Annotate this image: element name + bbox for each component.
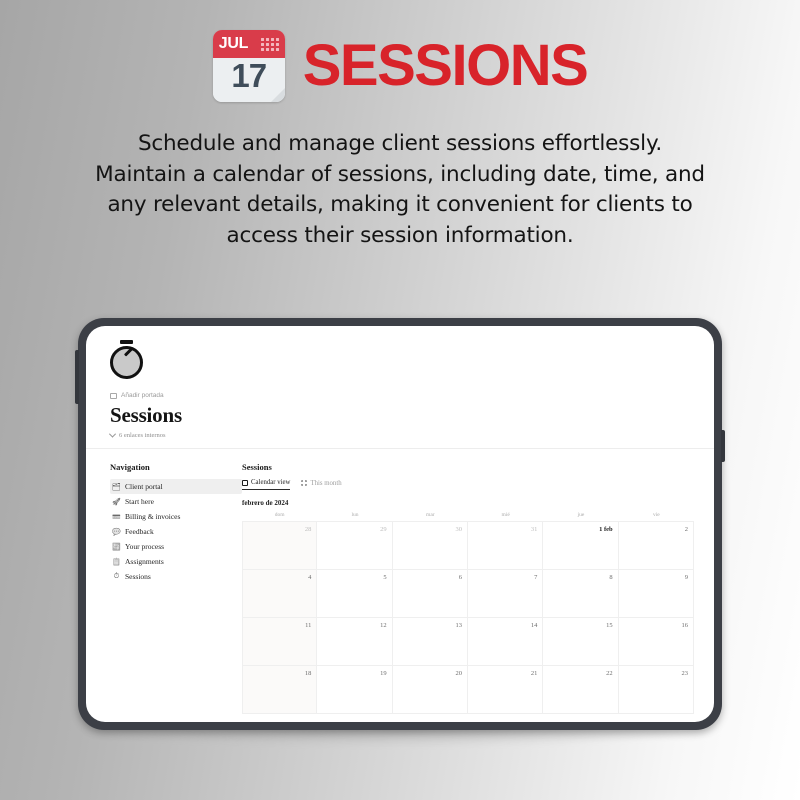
stopwatch-small-icon: ⏱ xyxy=(112,572,121,581)
weekday-label: mar xyxy=(393,512,468,521)
calendar-day-cell[interactable]: 23 xyxy=(619,666,694,713)
calendar-day-cell[interactable]: 22 xyxy=(543,666,618,713)
calendar-view-icon xyxy=(242,480,248,486)
sidebar-item-label: Sessions xyxy=(125,572,151,581)
calendar-icon-dots xyxy=(261,38,279,51)
sidebar-item-label: Feedback xyxy=(125,527,154,536)
calendar-day-cell[interactable]: 7 xyxy=(468,570,543,617)
page-columns: Navigation 🗂 Client portal 🚀 Start here xyxy=(110,462,694,714)
calendar-day-cell[interactable]: 18 xyxy=(242,666,317,713)
tablet-frame: Añadir portada Sessions 6 enlaces intern… xyxy=(78,318,722,730)
chevron-down-icon xyxy=(109,431,116,438)
sidebar-item-label: Your process xyxy=(125,542,164,551)
notion-page-title[interactable]: Sessions xyxy=(110,404,694,427)
calendar-day-cell[interactable]: 31 xyxy=(468,522,543,569)
image-icon xyxy=(110,393,117,399)
sidebar-item-assignments[interactable]: 📋 Assignments xyxy=(110,554,242,569)
sidebar-item-your-process[interactable]: 🔄 Your process xyxy=(110,539,242,554)
calendar-weeks: 28 29 30 31 1 feb 2 4 5 xyxy=(242,521,694,714)
calendar-day-cell[interactable]: 1 feb xyxy=(543,522,618,569)
description-line-3: any relevant details, making it convenie… xyxy=(50,190,750,221)
calendar-week-row: 28 29 30 31 1 feb 2 xyxy=(242,522,694,570)
tab-label: Calendar view xyxy=(251,479,290,486)
weekday-label: mié xyxy=(468,512,543,521)
calendar-day-cell[interactable]: 29 xyxy=(317,522,392,569)
calendar-weekday-header: dom lun mar mié jue vie xyxy=(242,512,694,521)
weekday-label: jue xyxy=(543,512,618,521)
sidebar-item-label: Assignments xyxy=(125,557,164,566)
database-view-tabs: Calendar view This month xyxy=(242,479,694,490)
calendar-icon: JUL 17 xyxy=(213,30,285,102)
sidebar-item-sessions[interactable]: ⏱ Sessions xyxy=(110,569,242,584)
weekday-label: dom xyxy=(242,512,317,521)
description-line-4: access their session information. xyxy=(50,221,750,252)
calendar-grid: dom lun mar mié jue vie 28 29 xyxy=(242,512,694,714)
page-header: JUL 17 SESSIONS xyxy=(0,0,800,102)
calendar-day-cell[interactable]: 2 xyxy=(619,522,694,569)
description-line-1: Schedule and manage client sessions effo… xyxy=(50,129,750,160)
calendar-icon-header: JUL xyxy=(213,30,285,58)
sidebar-item-label: Start here xyxy=(125,497,154,506)
notion-page: Añadir portada Sessions 6 enlaces intern… xyxy=(86,326,714,722)
calendar-week-row: 11 12 13 14 15 16 xyxy=(242,618,694,666)
calendar-day-cell[interactable]: 20 xyxy=(393,666,468,713)
sidebar-item-label: Billing & invoices xyxy=(125,512,180,521)
page-divider xyxy=(86,448,714,449)
calendar-day-cell[interactable]: 8 xyxy=(543,570,618,617)
clipboard-icon: 📋 xyxy=(112,558,121,566)
calendar-day-cell[interactable]: 9 xyxy=(619,570,694,617)
grid-view-icon xyxy=(301,480,307,486)
calendar-day-cell[interactable]: 14 xyxy=(468,618,543,665)
add-cover-label: Añadir portada xyxy=(121,392,164,399)
calendar-day-cell[interactable]: 11 xyxy=(242,618,317,665)
rocket-icon: 🚀 xyxy=(112,498,121,506)
calendar-day-cell[interactable]: 19 xyxy=(317,666,392,713)
tablet-screen: Añadir portada Sessions 6 enlaces intern… xyxy=(86,326,714,722)
description-line-2: Maintain a calendar of sessions, includi… xyxy=(50,160,750,191)
calendar-day-cell[interactable]: 5 xyxy=(317,570,392,617)
calendar-day-cell[interactable]: 15 xyxy=(543,618,618,665)
sidebar-item-client-portal[interactable]: 🗂 Client portal xyxy=(110,479,242,494)
sidebar-item-start-here[interactable]: 🚀 Start here xyxy=(110,494,242,509)
add-cover-button[interactable]: Añadir portada xyxy=(110,392,694,399)
tablet-power-button[interactable] xyxy=(721,430,725,462)
stopwatch-icon[interactable] xyxy=(110,340,144,374)
sidebar-item-billing-invoices[interactable]: 💳 Billing & invoices xyxy=(110,509,242,524)
navigation-list: 🗂 Client portal 🚀 Start here 💳 Billing &… xyxy=(110,479,242,584)
backlinks-toggle[interactable]: 6 enlaces internos xyxy=(110,432,694,439)
sidebar-item-feedback[interactable]: 💬 Feedback xyxy=(110,524,242,539)
calendar-icon-fold xyxy=(271,88,285,102)
calendar-day-cell[interactable]: 13 xyxy=(393,618,468,665)
calendar-day-cell[interactable]: 30 xyxy=(393,522,468,569)
navigation-heading: Navigation xyxy=(110,462,242,472)
calendar-day-cell[interactable]: 6 xyxy=(393,570,468,617)
tablet-mockup: Añadir portada Sessions 6 enlaces intern… xyxy=(78,318,722,800)
calendar-month-label: febrero de 2024 xyxy=(242,499,694,507)
calendar-day-cell[interactable]: 16 xyxy=(619,618,694,665)
page-description: Schedule and manage client sessions effo… xyxy=(50,129,750,251)
folder-icon: 🗂 xyxy=(112,483,121,491)
tab-calendar-view[interactable]: Calendar view xyxy=(242,479,290,490)
sidebar-item-label: Client portal xyxy=(125,482,163,491)
calendar-day-cell[interactable]: 28 xyxy=(242,522,317,569)
calendar-day-cell[interactable]: 12 xyxy=(317,618,392,665)
calendar-day-cell[interactable]: 21 xyxy=(468,666,543,713)
calendar-week-row: 4 5 6 7 8 9 xyxy=(242,570,694,618)
page-title: SESSIONS xyxy=(303,37,588,95)
weekday-label: vie xyxy=(619,512,694,521)
calendar-day-cell[interactable]: 4 xyxy=(242,570,317,617)
sessions-database: Sessions Calendar view This month xyxy=(242,462,694,714)
tablet-volume-button[interactable] xyxy=(75,350,79,404)
calendar-icon-day: 17 xyxy=(231,59,266,92)
calendar-icon-month: JUL xyxy=(219,36,248,52)
stopwatch-crown xyxy=(120,340,133,344)
weekday-label: lun xyxy=(317,512,392,521)
sessions-db-heading: Sessions xyxy=(242,462,694,472)
navigation-column: Navigation 🗂 Client portal 🚀 Start here xyxy=(110,462,242,714)
tab-this-month[interactable]: This month xyxy=(301,480,341,490)
credit-card-icon: 💳 xyxy=(112,513,121,521)
speech-bubble-icon: 💬 xyxy=(112,528,121,536)
calendar-week-row: 18 19 20 21 22 23 xyxy=(242,666,694,714)
refresh-icon: 🔄 xyxy=(112,543,121,551)
tab-label: This month xyxy=(310,480,341,487)
backlinks-label: 6 enlaces internos xyxy=(119,432,166,439)
